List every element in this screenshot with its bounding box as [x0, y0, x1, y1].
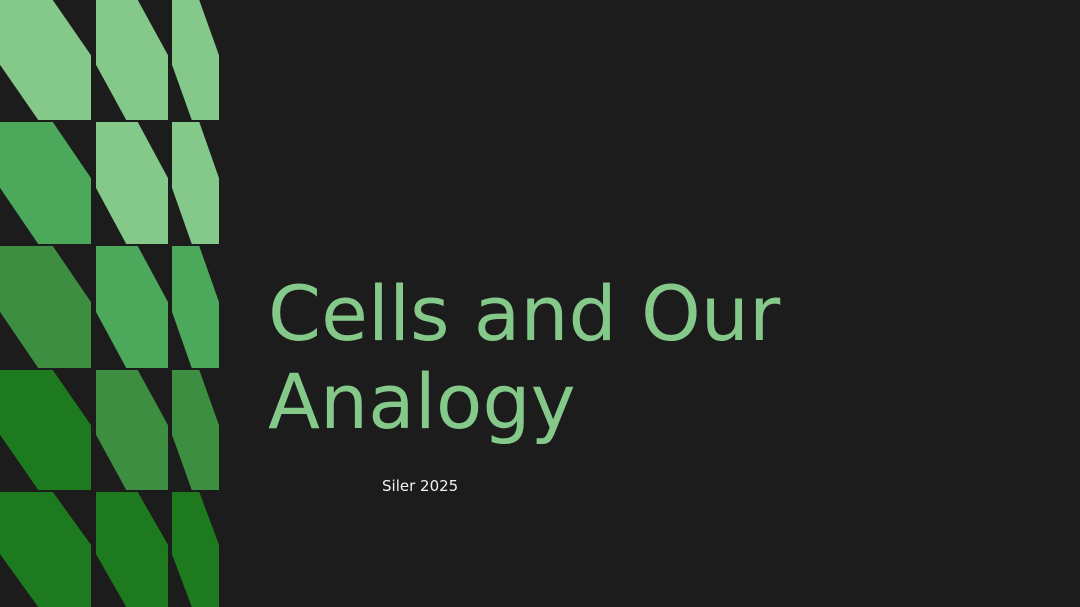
pattern-tile: [172, 122, 219, 244]
title-slide: Cells and Our Analogy Siler 2025: [0, 0, 1080, 607]
pattern-row: [0, 370, 220, 490]
pattern-tile: [0, 492, 91, 607]
page-title: Cells and Our Analogy: [268, 270, 968, 446]
pattern-tile: [0, 122, 91, 244]
pattern-tile: [172, 246, 219, 368]
pattern-tile: [0, 370, 91, 490]
pattern-tile: [96, 122, 168, 244]
pattern-tile: [96, 246, 168, 368]
pattern-tile: [96, 370, 168, 490]
pattern-tile: [172, 370, 219, 490]
pattern-row: [0, 122, 220, 244]
pattern-tile: [172, 492, 219, 607]
pattern-tile: [96, 0, 168, 120]
pattern-row: [0, 0, 220, 120]
decorative-tile-pattern: [0, 0, 220, 607]
pattern-row: [0, 246, 220, 368]
pattern-tile: [0, 246, 91, 368]
pattern-tile: [172, 0, 219, 120]
pattern-tile: [96, 492, 168, 607]
slide-subtitle: Siler 2025: [268, 446, 968, 496]
pattern-tile: [0, 0, 91, 120]
pattern-row: [0, 492, 220, 607]
title-text-block: Cells and Our Analogy Siler 2025: [268, 270, 968, 496]
